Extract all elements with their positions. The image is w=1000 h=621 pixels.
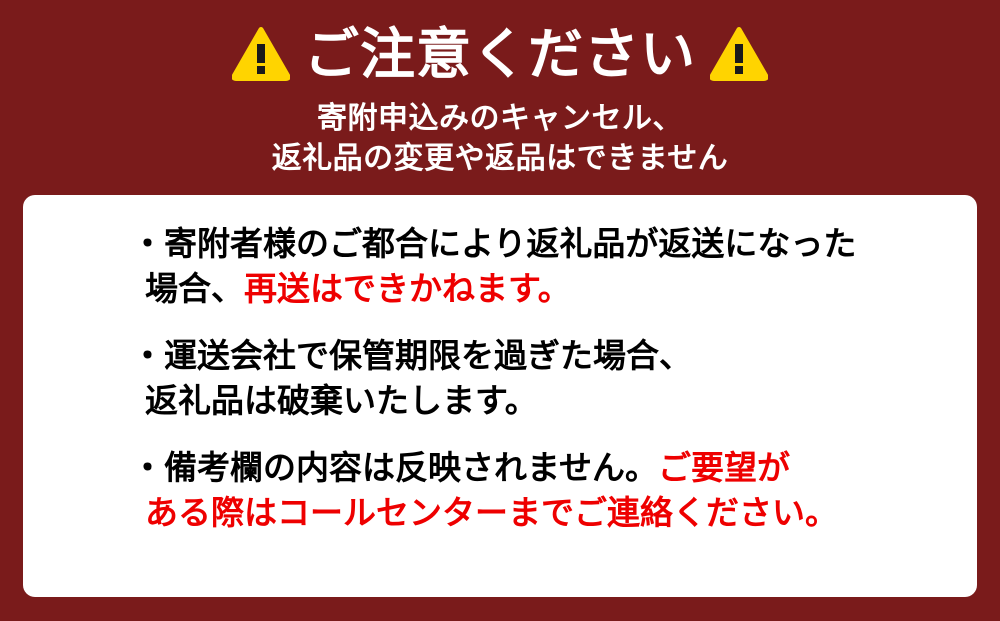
banner-header: ご注意ください 寄附申込みのキャンセル、 返礼品の変更や返品はできません: [0, 0, 1000, 190]
subtitle-line: 返礼品の変更や返品はできません: [0, 139, 1000, 179]
notice-item: ・運送会社で保管期限を過ぎた場合、返礼品は破棄いたします。: [23, 333, 977, 423]
notice-banner: ご注意ください 寄附申込みのキャンセル、 返礼品の変更や返品はできません ・寄附…: [0, 0, 1000, 621]
notice-text-emphasis: ある際はコールセンターまでご連絡ください。: [145, 494, 838, 531]
notice-text-emphasis: ご要望が: [658, 449, 790, 486]
notice-text: 備考欄の内容は反映されません。: [164, 449, 658, 486]
bullet-marker: ・: [131, 449, 164, 486]
notice-line: 場合、再送はできかねます。: [131, 266, 977, 311]
notice-line: ・運送会社で保管期限を過ぎた場合、: [131, 333, 977, 378]
bullet-marker: ・: [131, 225, 164, 262]
warning-triangle-icon: [232, 27, 290, 81]
title-row: ご注意ください: [0, 18, 1000, 90]
notice-text: 返礼品は破棄いたします。: [145, 382, 538, 419]
notice-item: ・備考欄の内容は反映されません。ご要望がある際はコールセンターまでご連絡ください…: [23, 445, 977, 535]
notice-text: 運送会社で保管期限を過ぎた場合、: [164, 337, 692, 374]
notice-line: ・備考欄の内容は反映されません。ご要望が: [131, 445, 977, 490]
subtitle-line: 寄附申込みのキャンセル、: [0, 99, 1000, 139]
notice-item: ・寄附者様のご都合により返礼品が返送になった場合、再送はできかねます。: [23, 221, 977, 311]
page-title: ご注意ください: [304, 24, 696, 84]
notice-text: 寄附者様のご都合により返礼品が返送になった: [164, 225, 856, 262]
notice-text-emphasis: 再送はできかねます。: [244, 270, 571, 307]
notice-list: ・寄附者様のご都合により返礼品が返送になった場合、再送はできかねます。・運送会社…: [23, 221, 977, 535]
notice-line: 返礼品は破棄いたします。: [131, 378, 977, 423]
notice-line: ・寄附者様のご都合により返礼品が返送になった: [131, 221, 977, 266]
banner-subtitle: 寄附申込みのキャンセル、 返礼品の変更や返品はできません: [0, 99, 1000, 179]
notice-text: 場合、: [145, 270, 244, 307]
notice-line: ある際はコールセンターまでご連絡ください。: [131, 490, 977, 535]
warning-triangle-icon: [710, 27, 768, 81]
bullet-marker: ・: [131, 337, 164, 374]
notice-card: ・寄附者様のご都合により返礼品が返送になった場合、再送はできかねます。・運送会社…: [23, 195, 977, 597]
